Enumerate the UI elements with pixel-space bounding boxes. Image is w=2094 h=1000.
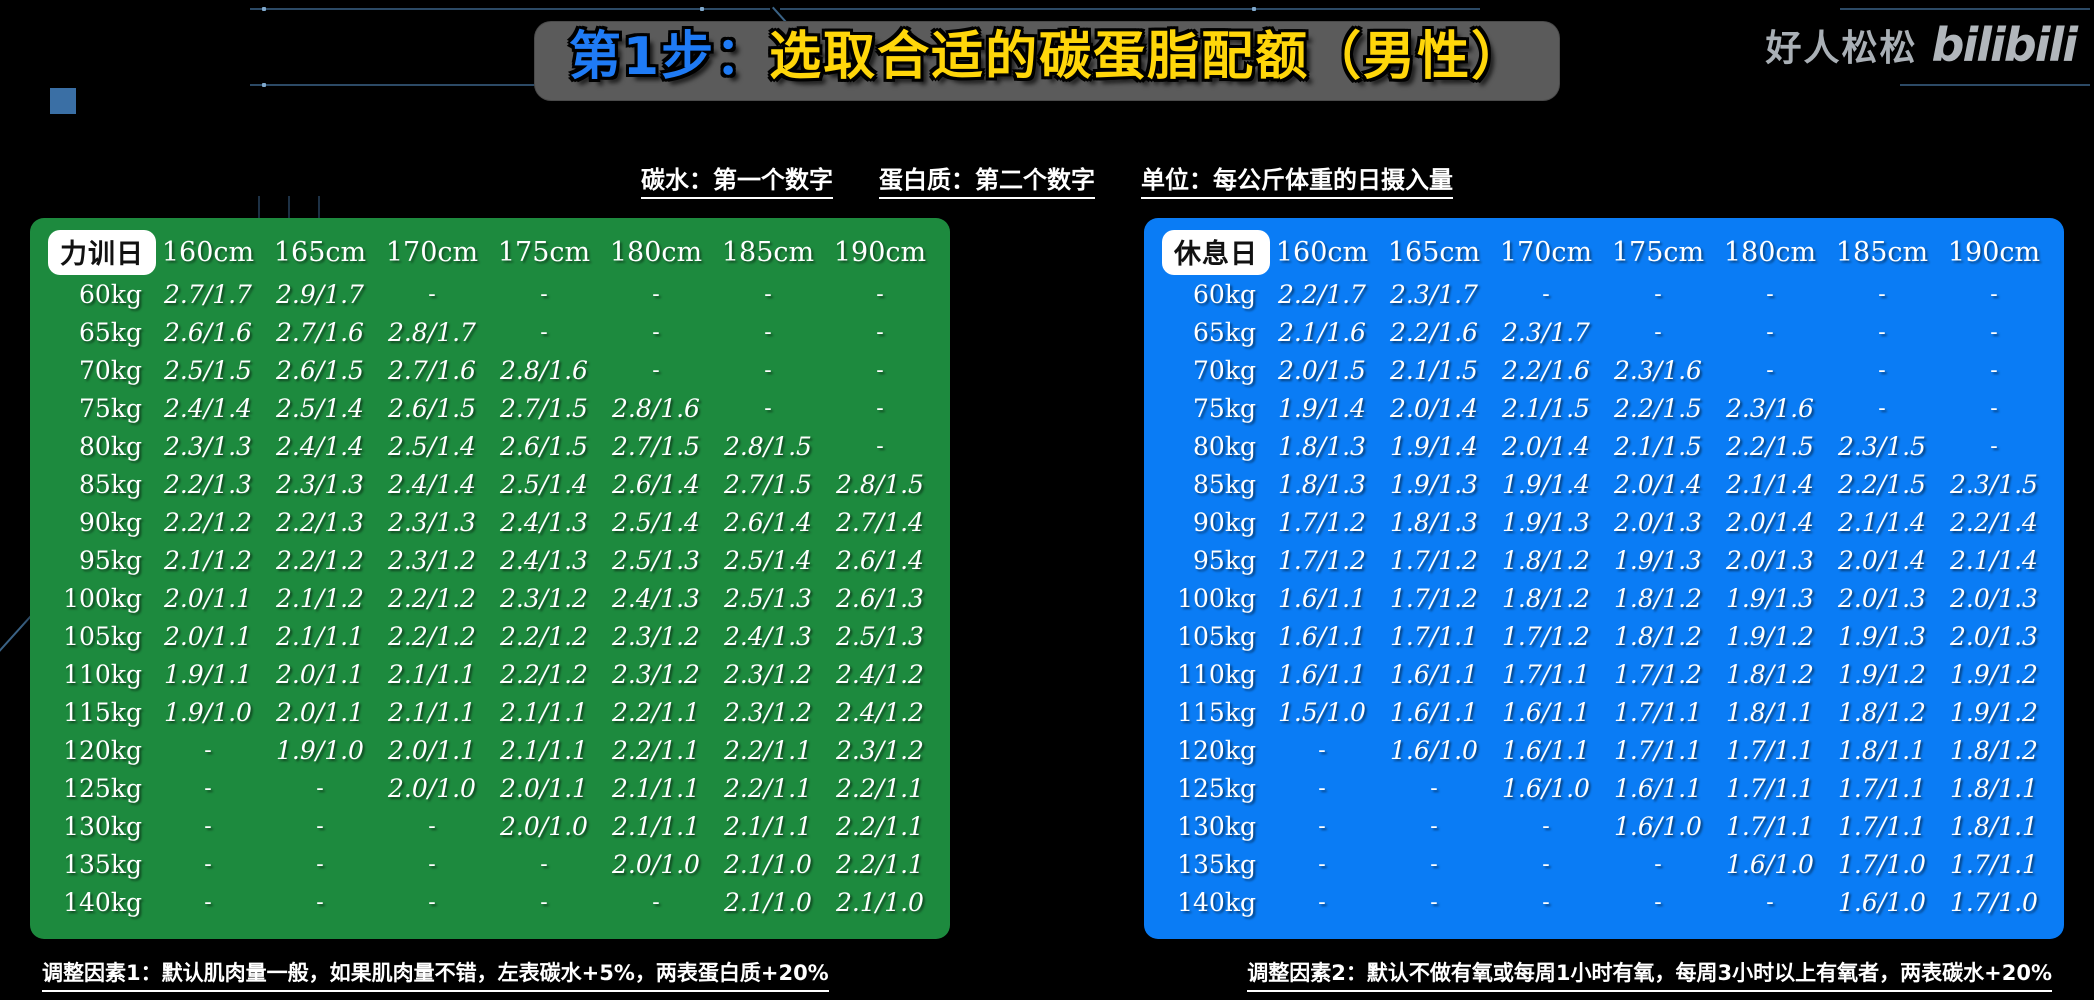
table-row: 105kg2.0/1.12.1/1.12.2/1.22.2/1.22.3/1.2… bbox=[44, 617, 936, 655]
title-step-label: 第1步： bbox=[569, 28, 769, 88]
table-cell-macro-value: 2.0/1.1 bbox=[152, 617, 264, 655]
table-cell-macro-value: - bbox=[824, 275, 936, 313]
legend-item-carbs: 碳水：第一个数字 bbox=[641, 160, 833, 199]
table-cell-macro-value: - bbox=[824, 351, 936, 389]
row-header-weight: 65kg bbox=[1158, 313, 1266, 351]
table-cell-macro-value: 1.7/1.1 bbox=[1490, 655, 1602, 693]
table-row: 115kg1.9/1.02.0/1.12.1/1.12.1/1.12.2/1.1… bbox=[44, 693, 936, 731]
table-cell-macro-value: 2.4/1.3 bbox=[600, 579, 712, 617]
table-cell-macro-value: - bbox=[1490, 807, 1602, 845]
table-cell-macro-value: 2.3/1.2 bbox=[600, 655, 712, 693]
table-cell-macro-value: 2.6/1.5 bbox=[376, 389, 488, 427]
column-header: 160cm bbox=[1266, 230, 1378, 275]
table-cell-macro-value: 2.1/1.1 bbox=[488, 693, 600, 731]
table-row: 135kg----1.6/1.01.7/1.01.7/1.1 bbox=[1158, 845, 2050, 883]
table-cell-macro-value: 2.0/1.4 bbox=[1602, 465, 1714, 503]
table-cell-macro-value: 2.1/1.1 bbox=[600, 807, 712, 845]
table-cell-macro-value: - bbox=[1266, 807, 1378, 845]
table-cell-macro-value: - bbox=[1266, 769, 1378, 807]
table-cell-macro-value: - bbox=[1714, 313, 1826, 351]
row-header-weight: 95kg bbox=[1158, 541, 1266, 579]
table-cell-macro-value: 1.6/1.0 bbox=[1490, 769, 1602, 807]
column-header: 165cm bbox=[264, 230, 376, 275]
table-cell-macro-value: 1.6/1.1 bbox=[1266, 655, 1378, 693]
row-header-weight: 65kg bbox=[44, 313, 152, 351]
table-corner-badge: 休息日 bbox=[1162, 230, 1270, 275]
table-cell-macro-value: 1.7/1.1 bbox=[1602, 693, 1714, 731]
table-cell-macro-value: 2.5/1.4 bbox=[488, 465, 600, 503]
table-cell-macro-value: 2.4/1.2 bbox=[824, 655, 936, 693]
table-row: 95kg1.7/1.21.7/1.21.8/1.21.9/1.32.0/1.32… bbox=[1158, 541, 2050, 579]
row-header-weight: 120kg bbox=[1158, 731, 1266, 769]
table-panel-rest-day: 休息日 160cm 165cm 170cm 175cm 180cm 185cm … bbox=[1144, 218, 2064, 939]
table-cell-macro-value: 2.4/1.2 bbox=[824, 693, 936, 731]
table-cell-macro-value: 1.8/1.2 bbox=[1826, 693, 1938, 731]
table-cell-macro-value: 2.4/1.3 bbox=[488, 503, 600, 541]
table-cell-macro-value: 1.6/1.1 bbox=[1266, 579, 1378, 617]
table-cell-macro-value: - bbox=[1826, 275, 1938, 313]
table-row: 90kg2.2/1.22.2/1.32.3/1.32.4/1.32.5/1.42… bbox=[44, 503, 936, 541]
column-header: 175cm bbox=[488, 230, 600, 275]
table-row: 75kg1.9/1.42.0/1.42.1/1.52.2/1.52.3/1.6-… bbox=[1158, 389, 2050, 427]
table-cell-macro-value: - bbox=[1938, 351, 2050, 389]
watermark: 好人松松 bilibili bbox=[1766, 18, 2076, 72]
table-cell-macro-value: - bbox=[488, 275, 600, 313]
table-cell-macro-value: 2.0/1.3 bbox=[1602, 503, 1714, 541]
column-header: 180cm bbox=[1714, 230, 1826, 275]
row-header-weight: 125kg bbox=[44, 769, 152, 807]
table-row: 60kg2.7/1.72.9/1.7----- bbox=[44, 275, 936, 313]
table-cell-macro-value: 1.6/1.0 bbox=[1714, 845, 1826, 883]
table-cell-macro-value: 2.0/1.4 bbox=[1490, 427, 1602, 465]
table-cell-macro-value: 2.0/1.0 bbox=[376, 769, 488, 807]
table-cell-macro-value: 2.2/1.2 bbox=[488, 617, 600, 655]
table-cell-macro-value: 2.2/1.1 bbox=[824, 807, 936, 845]
table-cell-macro-value: - bbox=[600, 351, 712, 389]
table-row: 140kg-----1.6/1.01.7/1.0 bbox=[1158, 883, 2050, 921]
table-cell-macro-value: 1.7/1.2 bbox=[1266, 541, 1378, 579]
table-panel-training-day: 力训日 160cm 165cm 170cm 175cm 180cm 185cm … bbox=[30, 218, 950, 939]
table-cell-macro-value: 1.7/1.1 bbox=[1938, 845, 2050, 883]
table-cell-macro-value: - bbox=[264, 807, 376, 845]
table-row: 70kg2.0/1.52.1/1.52.2/1.62.3/1.6--- bbox=[1158, 351, 2050, 389]
table-cell-macro-value: - bbox=[600, 313, 712, 351]
table-cell-macro-value: 1.7/1.1 bbox=[1602, 731, 1714, 769]
table-cell-macro-value: 2.5/1.3 bbox=[824, 617, 936, 655]
table-cell-macro-value: - bbox=[1602, 883, 1714, 921]
table-cell-macro-value: 2.0/1.4 bbox=[1378, 389, 1490, 427]
table-cell-macro-value: - bbox=[1602, 275, 1714, 313]
table-cell-macro-value: 1.9/1.3 bbox=[1378, 465, 1490, 503]
table-cell-macro-value: 2.4/1.4 bbox=[152, 389, 264, 427]
table-cell-macro-value: - bbox=[376, 883, 488, 921]
table-cell-macro-value: 1.7/1.0 bbox=[1826, 845, 1938, 883]
table-row: 135kg----2.0/1.02.1/1.02.2/1.1 bbox=[44, 845, 936, 883]
table-cell-macro-value: - bbox=[1938, 275, 2050, 313]
table-cell-macro-value: 2.3/1.5 bbox=[1826, 427, 1938, 465]
table-cell-macro-value: 1.6/1.1 bbox=[1378, 693, 1490, 731]
table-cell-macro-value: 1.9/1.3 bbox=[1826, 617, 1938, 655]
table-cell-macro-value: - bbox=[488, 845, 600, 883]
legend-item-unit: 单位：每公斤体重的日摄入量 bbox=[1141, 160, 1453, 199]
table-cell-macro-value: 2.5/1.4 bbox=[600, 503, 712, 541]
table-cell-macro-value: 1.6/1.0 bbox=[1602, 807, 1714, 845]
table-cell-macro-value: - bbox=[264, 845, 376, 883]
row-header-weight: 135kg bbox=[44, 845, 152, 883]
table-row: 120kg-1.9/1.02.0/1.12.1/1.12.2/1.12.2/1.… bbox=[44, 731, 936, 769]
row-header-weight: 70kg bbox=[44, 351, 152, 389]
table-cell-macro-value: 2.5/1.4 bbox=[376, 427, 488, 465]
table-cell-macro-value: 1.6/1.1 bbox=[1266, 617, 1378, 655]
table-cell-macro-value: 2.3/1.6 bbox=[1602, 351, 1714, 389]
table-cell-macro-value: 2.2/1.6 bbox=[1490, 351, 1602, 389]
table-cell-macro-value: - bbox=[712, 351, 824, 389]
table-cell-macro-value: 2.1/1.5 bbox=[1490, 389, 1602, 427]
row-header-weight: 95kg bbox=[44, 541, 152, 579]
row-header-weight: 105kg bbox=[1158, 617, 1266, 655]
table-cell-macro-value: 2.2/1.5 bbox=[1714, 427, 1826, 465]
table-cell-macro-value: 2.0/1.1 bbox=[152, 579, 264, 617]
table-cell-macro-value: 2.3/1.2 bbox=[712, 693, 824, 731]
table-cell-macro-value: - bbox=[824, 427, 936, 465]
table-cell-macro-value: 1.7/1.1 bbox=[1714, 731, 1826, 769]
table-header-row: 力训日 160cm 165cm 170cm 175cm 180cm 185cm … bbox=[44, 230, 936, 275]
table-cell-macro-value: 2.2/1.2 bbox=[376, 579, 488, 617]
table-cell-macro-value: 2.0/1.4 bbox=[1826, 541, 1938, 579]
table-cell-macro-value: 2.0/1.3 bbox=[1714, 541, 1826, 579]
table-cell-macro-value: - bbox=[152, 731, 264, 769]
row-header-weight: 135kg bbox=[1158, 845, 1266, 883]
table-row: 110kg1.6/1.11.6/1.11.7/1.11.7/1.21.8/1.2… bbox=[1158, 655, 2050, 693]
table-cell-macro-value: 2.2/1.1 bbox=[712, 731, 824, 769]
table-cell-macro-value: 1.8/1.2 bbox=[1938, 731, 2050, 769]
table-row: 85kg1.8/1.31.9/1.31.9/1.42.0/1.42.1/1.42… bbox=[1158, 465, 2050, 503]
tables-container: 力训日 160cm 165cm 170cm 175cm 180cm 185cm … bbox=[0, 218, 2094, 939]
table-cell-macro-value: - bbox=[264, 769, 376, 807]
table-cell-macro-value: - bbox=[264, 883, 376, 921]
row-header-weight: 110kg bbox=[1158, 655, 1266, 693]
table-cell-macro-value: 2.2/1.6 bbox=[1378, 313, 1490, 351]
table-cell-macro-value: 2.5/1.3 bbox=[712, 579, 824, 617]
table-cell-macro-value: 2.3/1.3 bbox=[264, 465, 376, 503]
table-cell-macro-value: - bbox=[1714, 883, 1826, 921]
table-cell-macro-value: - bbox=[1938, 389, 2050, 427]
table-cell-macro-value: 2.4/1.4 bbox=[376, 465, 488, 503]
table-cell-macro-value: 2.2/1.1 bbox=[600, 693, 712, 731]
row-header-weight: 85kg bbox=[1158, 465, 1266, 503]
table-cell-macro-value: - bbox=[1266, 845, 1378, 883]
table-cell-macro-value: - bbox=[1378, 845, 1490, 883]
table-cell-macro-value: 2.2/1.5 bbox=[1602, 389, 1714, 427]
table-cell-macro-value: 2.0/1.3 bbox=[1826, 579, 1938, 617]
row-header-weight: 140kg bbox=[44, 883, 152, 921]
table-cell-macro-value: 2.4/1.3 bbox=[488, 541, 600, 579]
table-cell-macro-value: - bbox=[712, 313, 824, 351]
table-cell-macro-value: 2.0/1.1 bbox=[264, 693, 376, 731]
table-cell-macro-value: 1.8/1.1 bbox=[1826, 731, 1938, 769]
table-cell-macro-value: 1.8/1.1 bbox=[1714, 693, 1826, 731]
row-header-weight: 140kg bbox=[1158, 883, 1266, 921]
table-cell-macro-value: 2.3/1.7 bbox=[1378, 275, 1490, 313]
table-cell-macro-value: 1.9/1.3 bbox=[1490, 503, 1602, 541]
table-cell-macro-value: 2.3/1.3 bbox=[376, 503, 488, 541]
table-cell-macro-value: 2.7/1.6 bbox=[264, 313, 376, 351]
table-cell-macro-value: 2.3/1.2 bbox=[712, 655, 824, 693]
table-corner-cell: 休息日 bbox=[1158, 230, 1266, 275]
table-cell-macro-value: 2.1/1.1 bbox=[488, 731, 600, 769]
table-cell-macro-value: - bbox=[1490, 845, 1602, 883]
legend-row: 碳水：第一个数字 蛋白质：第二个数字 单位：每公斤体重的日摄入量 bbox=[0, 160, 2094, 199]
table-cell-macro-value: - bbox=[1938, 427, 2050, 465]
title-badge: 第1步： 选取合适的碳蛋脂配额（男性） bbox=[535, 22, 1559, 100]
table-cell-macro-value: 2.2/1.2 bbox=[376, 617, 488, 655]
table-cell-macro-value: - bbox=[1714, 351, 1826, 389]
title-main-label: 选取合适的碳蛋脂配额（男性） bbox=[769, 28, 1525, 88]
table-cell-macro-value: 2.2/1.1 bbox=[824, 845, 936, 883]
table-row: 90kg1.7/1.21.8/1.31.9/1.32.0/1.32.0/1.42… bbox=[1158, 503, 2050, 541]
table-cell-macro-value: - bbox=[1378, 807, 1490, 845]
table-cell-macro-value: 2.3/1.7 bbox=[1490, 313, 1602, 351]
table-cell-macro-value: 2.1/1.1 bbox=[376, 655, 488, 693]
row-header-weight: 75kg bbox=[1158, 389, 1266, 427]
table-cell-macro-value: 2.8/1.6 bbox=[488, 351, 600, 389]
footnote-adjustment-factor-2: 调整因素2：默认不做有氧或每周1小时有氧，每周3小时以上有氧者，两表碳水+20% bbox=[1247, 957, 2052, 992]
footnote-adjustment-factor-1: 调整因素1：默认肌肉量一般，如果肌肉量不错，左表碳水+5%，两表蛋白质+20% bbox=[42, 957, 829, 992]
table-cell-macro-value: 2.1/1.4 bbox=[1938, 541, 2050, 579]
table-cell-macro-value: 1.7/1.1 bbox=[1378, 617, 1490, 655]
table-cell-macro-value: 2.6/1.4 bbox=[600, 465, 712, 503]
table-cell-macro-value: 2.0/1.4 bbox=[1714, 503, 1826, 541]
table-cell-macro-value: 1.7/1.2 bbox=[1490, 617, 1602, 655]
table-cell-macro-value: - bbox=[1826, 313, 1938, 351]
table-cell-macro-value: - bbox=[712, 275, 824, 313]
table-cell-macro-value: 2.3/1.5 bbox=[1938, 465, 2050, 503]
table-cell-macro-value: 2.1/1.4 bbox=[1826, 503, 1938, 541]
row-header-weight: 115kg bbox=[44, 693, 152, 731]
table-cell-macro-value: 2.9/1.7 bbox=[264, 275, 376, 313]
table-cell-macro-value: 2.8/1.5 bbox=[712, 427, 824, 465]
table-cell-macro-value: 1.8/1.2 bbox=[1490, 541, 1602, 579]
table-cell-macro-value: 2.4/1.4 bbox=[264, 427, 376, 465]
table-cell-macro-value: 1.7/1.2 bbox=[1378, 579, 1490, 617]
row-header-weight: 80kg bbox=[44, 427, 152, 465]
column-header: 175cm bbox=[1602, 230, 1714, 275]
row-header-weight: 100kg bbox=[1158, 579, 1266, 617]
table-row: 100kg1.6/1.11.7/1.21.8/1.21.8/1.21.9/1.3… bbox=[1158, 579, 2050, 617]
table-cell-macro-value: 2.0/1.0 bbox=[488, 807, 600, 845]
table-row: 100kg2.0/1.12.1/1.22.2/1.22.3/1.22.4/1.3… bbox=[44, 579, 936, 617]
table-cell-macro-value: 2.2/1.1 bbox=[824, 769, 936, 807]
table-row: 125kg--1.6/1.01.6/1.11.7/1.11.7/1.11.8/1… bbox=[1158, 769, 2050, 807]
table-cell-macro-value: 2.5/1.4 bbox=[264, 389, 376, 427]
table-cell-macro-value: 2.1/1.0 bbox=[712, 845, 824, 883]
table-cell-macro-value: 2.6/1.6 bbox=[152, 313, 264, 351]
table-cell-macro-value: 2.3/1.2 bbox=[824, 731, 936, 769]
table-cell-macro-value: 1.9/1.0 bbox=[152, 693, 264, 731]
table-body-rest-day: 60kg2.2/1.72.3/1.7-----65kg2.1/1.62.2/1.… bbox=[1158, 275, 2050, 921]
table-cell-macro-value: 2.7/1.5 bbox=[488, 389, 600, 427]
column-header: 160cm bbox=[152, 230, 264, 275]
table-cell-macro-value: 2.3/1.2 bbox=[600, 617, 712, 655]
table-cell-macro-value: 2.7/1.6 bbox=[376, 351, 488, 389]
table-cell-macro-value: 2.1/1.1 bbox=[264, 617, 376, 655]
table-cell-macro-value: 2.1/1.0 bbox=[712, 883, 824, 921]
column-header: 180cm bbox=[600, 230, 712, 275]
table-cell-macro-value: 1.7/1.2 bbox=[1266, 503, 1378, 541]
table-cell-macro-value: - bbox=[600, 275, 712, 313]
table-cell-macro-value: 2.1/1.2 bbox=[152, 541, 264, 579]
table-cell-macro-value: 2.1/1.4 bbox=[1714, 465, 1826, 503]
row-header-weight: 60kg bbox=[44, 275, 152, 313]
table-cell-macro-value: 2.2/1.3 bbox=[152, 465, 264, 503]
row-header-weight: 130kg bbox=[1158, 807, 1266, 845]
macro-table-rest-day: 休息日 160cm 165cm 170cm 175cm 180cm 185cm … bbox=[1158, 230, 2050, 921]
table-cell-macro-value: 1.5/1.0 bbox=[1266, 693, 1378, 731]
row-header-weight: 100kg bbox=[44, 579, 152, 617]
table-cell-macro-value: 1.8/1.3 bbox=[1378, 503, 1490, 541]
table-row: 85kg2.2/1.32.3/1.32.4/1.42.5/1.42.6/1.42… bbox=[44, 465, 936, 503]
table-cell-macro-value: 1.6/1.0 bbox=[1378, 731, 1490, 769]
table-row: 140kg-----2.1/1.02.1/1.0 bbox=[44, 883, 936, 921]
row-header-weight: 90kg bbox=[1158, 503, 1266, 541]
row-header-weight: 70kg bbox=[1158, 351, 1266, 389]
table-row: 120kg-1.6/1.01.6/1.11.7/1.11.7/1.11.8/1.… bbox=[1158, 731, 2050, 769]
table-cell-macro-value: 1.9/1.1 bbox=[152, 655, 264, 693]
table-cell-macro-value: - bbox=[1266, 731, 1378, 769]
table-cell-macro-value: 1.8/1.2 bbox=[1714, 655, 1826, 693]
table-cell-macro-value: 1.9/1.2 bbox=[1714, 617, 1826, 655]
table-cell-macro-value: 2.1/1.1 bbox=[712, 807, 824, 845]
table-cell-macro-value: 1.7/1.2 bbox=[1378, 541, 1490, 579]
table-cell-macro-value: 2.5/1.4 bbox=[712, 541, 824, 579]
column-header: 170cm bbox=[1490, 230, 1602, 275]
table-cell-macro-value: - bbox=[1714, 275, 1826, 313]
table-cell-macro-value: 1.8/1.2 bbox=[1602, 617, 1714, 655]
row-header-weight: 130kg bbox=[44, 807, 152, 845]
table-cell-macro-value: 2.1/1.0 bbox=[824, 883, 936, 921]
table-cell-macro-value: 2.2/1.1 bbox=[600, 731, 712, 769]
table-cell-macro-value: 2.7/1.4 bbox=[824, 503, 936, 541]
table-cell-macro-value: - bbox=[1938, 313, 2050, 351]
table-cell-macro-value: 2.8/1.6 bbox=[600, 389, 712, 427]
table-cell-macro-value: 2.2/1.2 bbox=[264, 541, 376, 579]
table-cell-macro-value: 2.2/1.1 bbox=[712, 769, 824, 807]
table-cell-macro-value: - bbox=[1490, 883, 1602, 921]
table-cell-macro-value: - bbox=[152, 845, 264, 883]
table-cell-macro-value: - bbox=[1266, 883, 1378, 921]
table-cell-macro-value: 1.7/1.1 bbox=[1714, 807, 1826, 845]
table-cell-macro-value: 2.8/1.5 bbox=[824, 465, 936, 503]
table-cell-macro-value: 2.1/1.5 bbox=[1378, 351, 1490, 389]
table-row: 75kg2.4/1.42.5/1.42.6/1.52.7/1.52.8/1.6-… bbox=[44, 389, 936, 427]
table-cell-macro-value: 1.9/1.4 bbox=[1378, 427, 1490, 465]
table-cell-macro-value: - bbox=[488, 883, 600, 921]
table-cell-macro-value: - bbox=[824, 313, 936, 351]
table-cell-macro-value: 2.0/1.1 bbox=[376, 731, 488, 769]
table-cell-macro-value: 2.3/1.2 bbox=[376, 541, 488, 579]
table-cell-macro-value: - bbox=[1602, 313, 1714, 351]
table-row: 125kg--2.0/1.02.0/1.12.1/1.12.2/1.12.2/1… bbox=[44, 769, 936, 807]
row-header-weight: 85kg bbox=[44, 465, 152, 503]
table-cell-macro-value: 1.8/1.3 bbox=[1266, 427, 1378, 465]
table-cell-macro-value: 2.2/1.2 bbox=[152, 503, 264, 541]
table-cell-macro-value: 1.9/1.2 bbox=[1826, 655, 1938, 693]
row-header-weight: 90kg bbox=[44, 503, 152, 541]
macro-table-training-day: 力训日 160cm 165cm 170cm 175cm 180cm 185cm … bbox=[44, 230, 936, 921]
table-cell-macro-value: 1.7/1.0 bbox=[1938, 883, 2050, 921]
table-cell-macro-value: 1.6/1.1 bbox=[1602, 769, 1714, 807]
column-header: 190cm bbox=[1938, 230, 2050, 275]
table-row: 95kg2.1/1.22.2/1.22.3/1.22.4/1.32.5/1.32… bbox=[44, 541, 936, 579]
table-cell-macro-value: - bbox=[600, 883, 712, 921]
table-cell-macro-value: 2.3/1.6 bbox=[1714, 389, 1826, 427]
row-header-weight: 120kg bbox=[44, 731, 152, 769]
footnotes: 调整因素1：默认肌肉量一般，如果肌肉量不错，左表碳水+5%，两表蛋白质+20% … bbox=[0, 957, 2094, 992]
table-row: 110kg1.9/1.12.0/1.12.1/1.12.2/1.22.3/1.2… bbox=[44, 655, 936, 693]
row-header-weight: 60kg bbox=[1158, 275, 1266, 313]
table-cell-macro-value: 1.6/1.1 bbox=[1490, 731, 1602, 769]
table-cell-macro-value: 2.5/1.5 bbox=[152, 351, 264, 389]
table-cell-macro-value: 2.3/1.2 bbox=[488, 579, 600, 617]
table-row: 60kg2.2/1.72.3/1.7----- bbox=[1158, 275, 2050, 313]
table-cell-macro-value: 2.2/1.7 bbox=[1266, 275, 1378, 313]
row-header-weight: 80kg bbox=[1158, 427, 1266, 465]
table-cell-macro-value: 1.6/1.1 bbox=[1378, 655, 1490, 693]
table-corner-badge: 力训日 bbox=[48, 230, 156, 275]
table-cell-macro-value: - bbox=[1602, 845, 1714, 883]
row-header-weight: 125kg bbox=[1158, 769, 1266, 807]
table-row: 80kg2.3/1.32.4/1.42.5/1.42.6/1.52.7/1.52… bbox=[44, 427, 936, 465]
table-cell-macro-value: 1.7/1.1 bbox=[1826, 769, 1938, 807]
bilibili-logo-icon: bilibili bbox=[1932, 18, 2076, 72]
table-cell-macro-value: - bbox=[488, 313, 600, 351]
column-header: 165cm bbox=[1378, 230, 1490, 275]
table-cell-macro-value: 2.6/1.4 bbox=[824, 541, 936, 579]
table-cell-macro-value: - bbox=[712, 389, 824, 427]
table-cell-macro-value: 2.7/1.5 bbox=[712, 465, 824, 503]
table-cell-macro-value: 2.3/1.3 bbox=[152, 427, 264, 465]
table-cell-macro-value: 2.1/1.6 bbox=[1266, 313, 1378, 351]
table-row: 130kg---1.6/1.01.7/1.11.7/1.11.8/1.1 bbox=[1158, 807, 2050, 845]
table-row: 105kg1.6/1.11.7/1.11.7/1.21.8/1.21.9/1.2… bbox=[1158, 617, 2050, 655]
table-cell-macro-value: 1.9/1.4 bbox=[1266, 389, 1378, 427]
table-cell-macro-value: - bbox=[376, 275, 488, 313]
table-corner-cell: 力训日 bbox=[44, 230, 152, 275]
table-cell-macro-value: 2.7/1.5 bbox=[600, 427, 712, 465]
table-row: 65kg2.1/1.62.2/1.62.3/1.7---- bbox=[1158, 313, 2050, 351]
table-cell-macro-value: - bbox=[152, 883, 264, 921]
table-cell-macro-value: 2.0/1.3 bbox=[1938, 617, 2050, 655]
row-header-weight: 110kg bbox=[44, 655, 152, 693]
table-row: 70kg2.5/1.52.6/1.52.7/1.62.8/1.6--- bbox=[44, 351, 936, 389]
row-header-weight: 105kg bbox=[44, 617, 152, 655]
table-cell-macro-value: 2.6/1.3 bbox=[824, 579, 936, 617]
table-row: 115kg1.5/1.01.6/1.11.6/1.11.7/1.11.8/1.1… bbox=[1158, 693, 2050, 731]
table-cell-macro-value: 2.0/1.0 bbox=[600, 845, 712, 883]
table-cell-macro-value: 1.8/1.2 bbox=[1490, 579, 1602, 617]
table-row: 80kg1.8/1.31.9/1.42.0/1.42.1/1.52.2/1.52… bbox=[1158, 427, 2050, 465]
table-cell-macro-value: 1.6/1.0 bbox=[1826, 883, 1938, 921]
column-header: 190cm bbox=[824, 230, 936, 275]
table-cell-macro-value: - bbox=[376, 807, 488, 845]
table-cell-macro-value: 2.8/1.7 bbox=[376, 313, 488, 351]
table-cell-macro-value: 2.0/1.3 bbox=[1938, 579, 2050, 617]
table-cell-macro-value: 2.2/1.3 bbox=[264, 503, 376, 541]
column-header: 170cm bbox=[376, 230, 488, 275]
table-cell-macro-value: 1.9/1.3 bbox=[1714, 579, 1826, 617]
table-cell-macro-value: 2.0/1.5 bbox=[1266, 351, 1378, 389]
table-cell-macro-value: 1.8/1.1 bbox=[1938, 807, 2050, 845]
